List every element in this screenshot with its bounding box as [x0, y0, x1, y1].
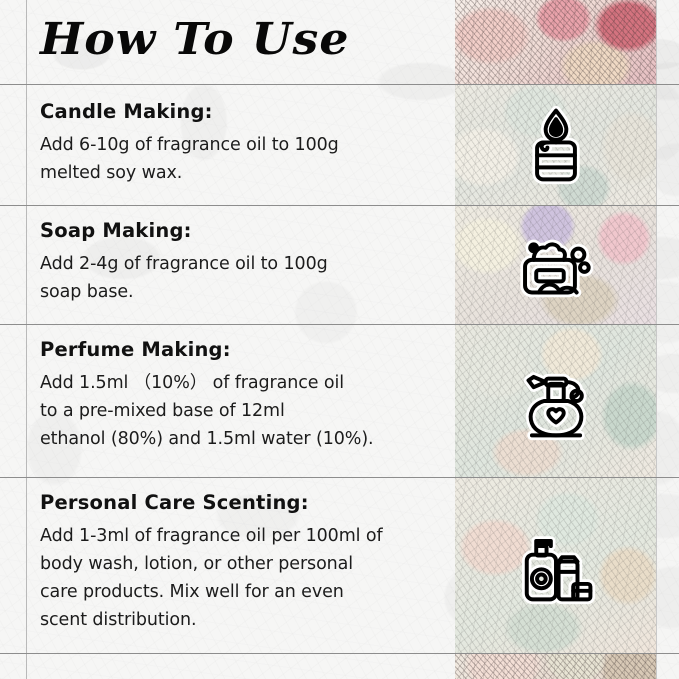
- page-title: How To Use: [40, 14, 350, 65]
- body-line: Add 2-4g of fragrance oil to 100g: [40, 250, 440, 278]
- section-soap-making: Soap Making: Add 2-4g of fragrance oil t…: [40, 219, 440, 306]
- soap-photo-band: [455, 205, 656, 324]
- body-line: Add 1-3ml of fragrance oil per 100ml of: [40, 522, 440, 550]
- band-etching-overlay: [455, 0, 656, 85]
- body-line: body wash, lotion, or other personal: [40, 550, 440, 578]
- icon-photo-column: [455, 0, 656, 679]
- section-candle-making: Candle Making: Add 6-10g of fragrance oi…: [40, 100, 440, 187]
- right-strip-texture: [656, 0, 679, 679]
- how-to-use-infographic: How To Use Candle Making: Add 6-10g of f…: [0, 0, 679, 679]
- section-heading: Soap Making:: [40, 219, 440, 242]
- body-line: to a pre-mixed base of 12ml: [40, 397, 440, 425]
- section-perfume-making: Perfume Making: Add 1.5ml （10%） of fragr…: [40, 338, 440, 453]
- perfume-bottle-icon: [513, 358, 599, 444]
- soap-bar-icon: [513, 222, 599, 308]
- section-personal-care-scenting: Personal Care Scenting: Add 1-3ml of fra…: [40, 491, 440, 634]
- body-line: Add 6-10g of fragrance oil to 100g: [40, 131, 440, 159]
- personal-care-photo-band: [455, 477, 656, 653]
- section-heading: Personal Care Scenting:: [40, 491, 440, 514]
- body-line: scent distribution.: [40, 606, 440, 634]
- floral-photo-band-bottom: [455, 653, 656, 679]
- instructions-text-column: How To Use Candle Making: Add 6-10g of f…: [0, 0, 455, 679]
- section-heading: Perfume Making:: [40, 338, 440, 361]
- section-body: Add 2-4g of fragrance oil to 100g soap b…: [40, 250, 440, 306]
- right-margin-strip: [656, 0, 679, 679]
- right-margin-rule: [656, 0, 657, 679]
- candle-icon: [513, 102, 599, 188]
- body-line: soap base.: [40, 278, 440, 306]
- section-body: Add 6-10g of fragrance oil to 100g melte…: [40, 131, 440, 187]
- body-line: care products. Mix well for an even: [40, 578, 440, 606]
- band-etching-overlay: [455, 653, 656, 679]
- section-body: Add 1.5ml （10%） of fragrance oil to a pr…: [40, 369, 440, 453]
- section-body: Add 1-3ml of fragrance oil per 100ml of …: [40, 522, 440, 634]
- candle-photo-band: [455, 85, 656, 205]
- personal-care-products-icon: [513, 522, 599, 608]
- body-line: ethanol (80%) and 1.5ml water (10%).: [40, 425, 440, 453]
- body-line: melted soy wax.: [40, 159, 440, 187]
- floral-photo-band-top: [455, 0, 656, 85]
- body-line: Add 1.5ml （10%） of fragrance oil: [40, 369, 440, 397]
- perfume-photo-band: [455, 324, 656, 477]
- section-heading: Candle Making:: [40, 100, 440, 123]
